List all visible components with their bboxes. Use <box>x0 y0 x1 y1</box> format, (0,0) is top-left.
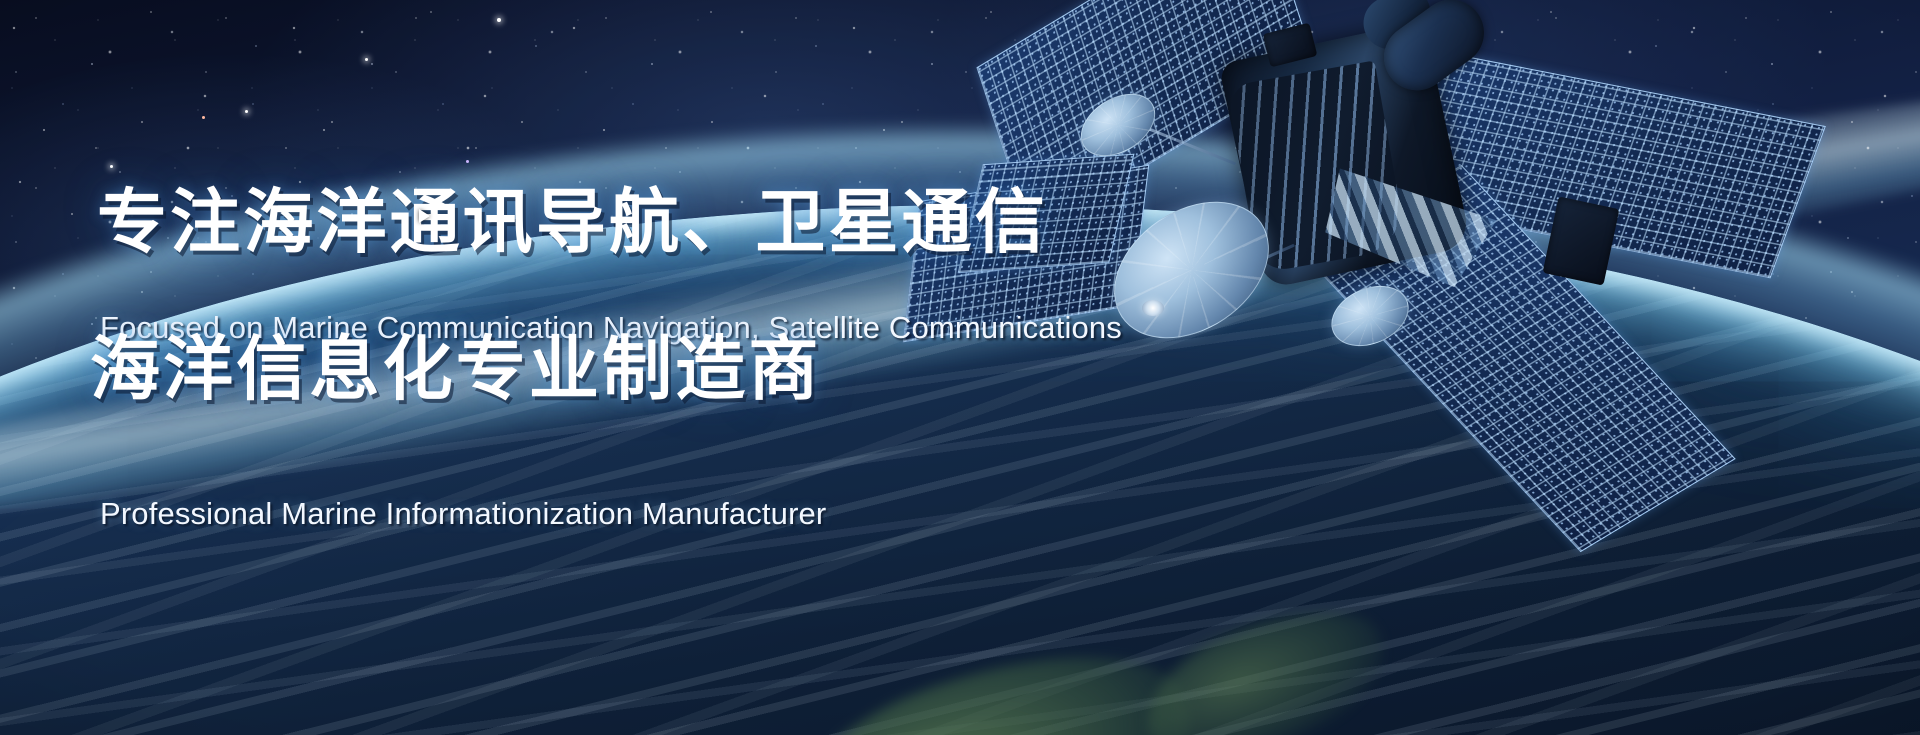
banner-copy: 专注海洋通讯导航、卫星通信 Focused on Marine Communic… <box>0 0 1920 735</box>
headline-secondary: 海洋信息化专业制造商 <box>90 333 822 406</box>
pointer-cursor <box>419 209 430 223</box>
headline-primary: 专注海洋通讯导航、卫星通信 <box>97 186 1048 259</box>
subhead-secondary: Professional Marine Informationization M… <box>100 496 826 532</box>
hero-banner: 专注海洋通讯导航、卫星通信 Focused on Marine Communic… <box>0 0 1920 735</box>
